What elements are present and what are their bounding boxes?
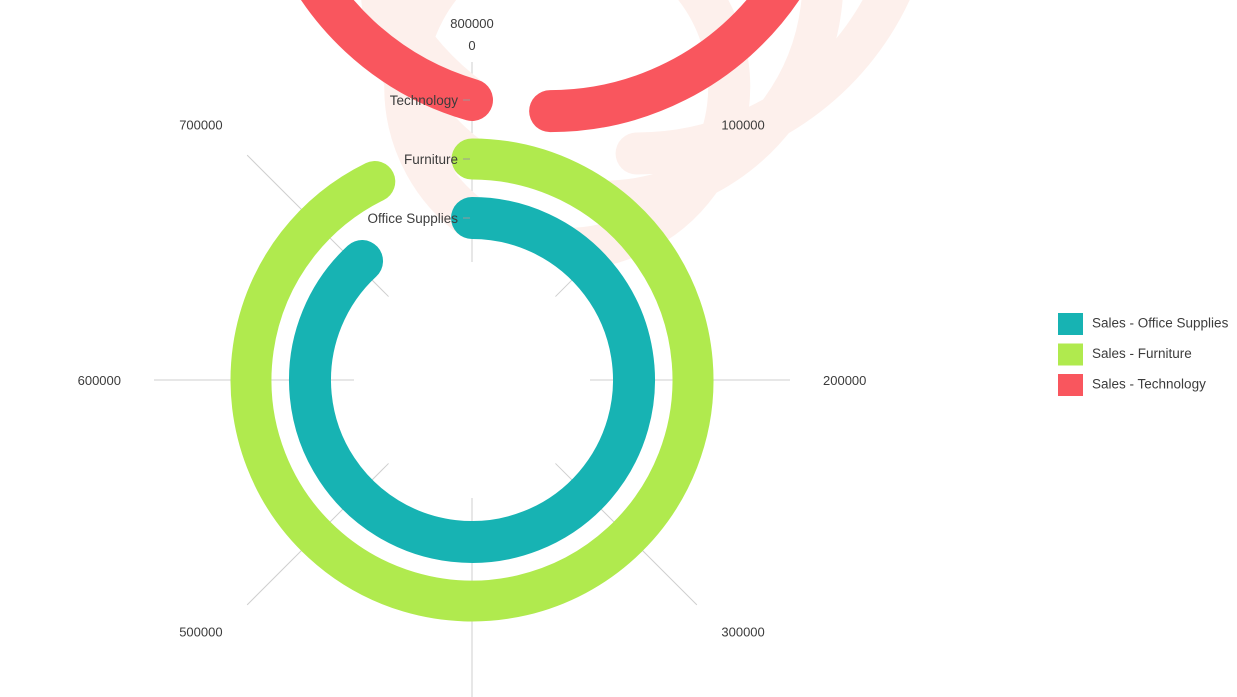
category-label-technology: Technology [390,93,459,108]
legend: Sales - Office SuppliesSales - Furniture… [1058,313,1229,396]
legend-swatch [1058,374,1083,396]
category-label-office-supplies: Office Supplies [367,211,458,226]
bar-office-supplies[interactable] [310,218,634,542]
chart-canvas: TechnologyFurnitureOffice Supplies 01000… [0,0,1237,697]
axis-tick-label-0: 0 [468,38,475,53]
axis-tick-label-600000: 600000 [78,373,121,388]
legend-item[interactable]: Sales - Technology [1058,374,1206,396]
category-label-furniture: Furniture [404,152,458,167]
axis-tick-label-300000: 300000 [721,624,764,639]
radial-bar-chart: TechnologyFurnitureOffice Supplies 01000… [0,0,1237,697]
legend-swatch [1058,313,1083,335]
legend-item[interactable]: Sales - Office Supplies [1058,313,1229,335]
legend-item[interactable]: Sales - Furniture [1058,344,1192,366]
axis-tick-label-700000: 700000 [179,118,222,133]
legend-swatch [1058,344,1083,366]
axis-tick-label-100000: 100000 [721,118,764,133]
axis-tick-label-200000: 200000 [823,373,866,388]
legend-label: Sales - Office Supplies [1092,316,1229,331]
legend-label: Sales - Technology [1092,377,1206,392]
axis-tick-label-500000: 500000 [179,624,222,639]
legend-label: Sales - Furniture [1092,346,1192,361]
axis-tick-label-800000: 800000 [450,16,493,31]
